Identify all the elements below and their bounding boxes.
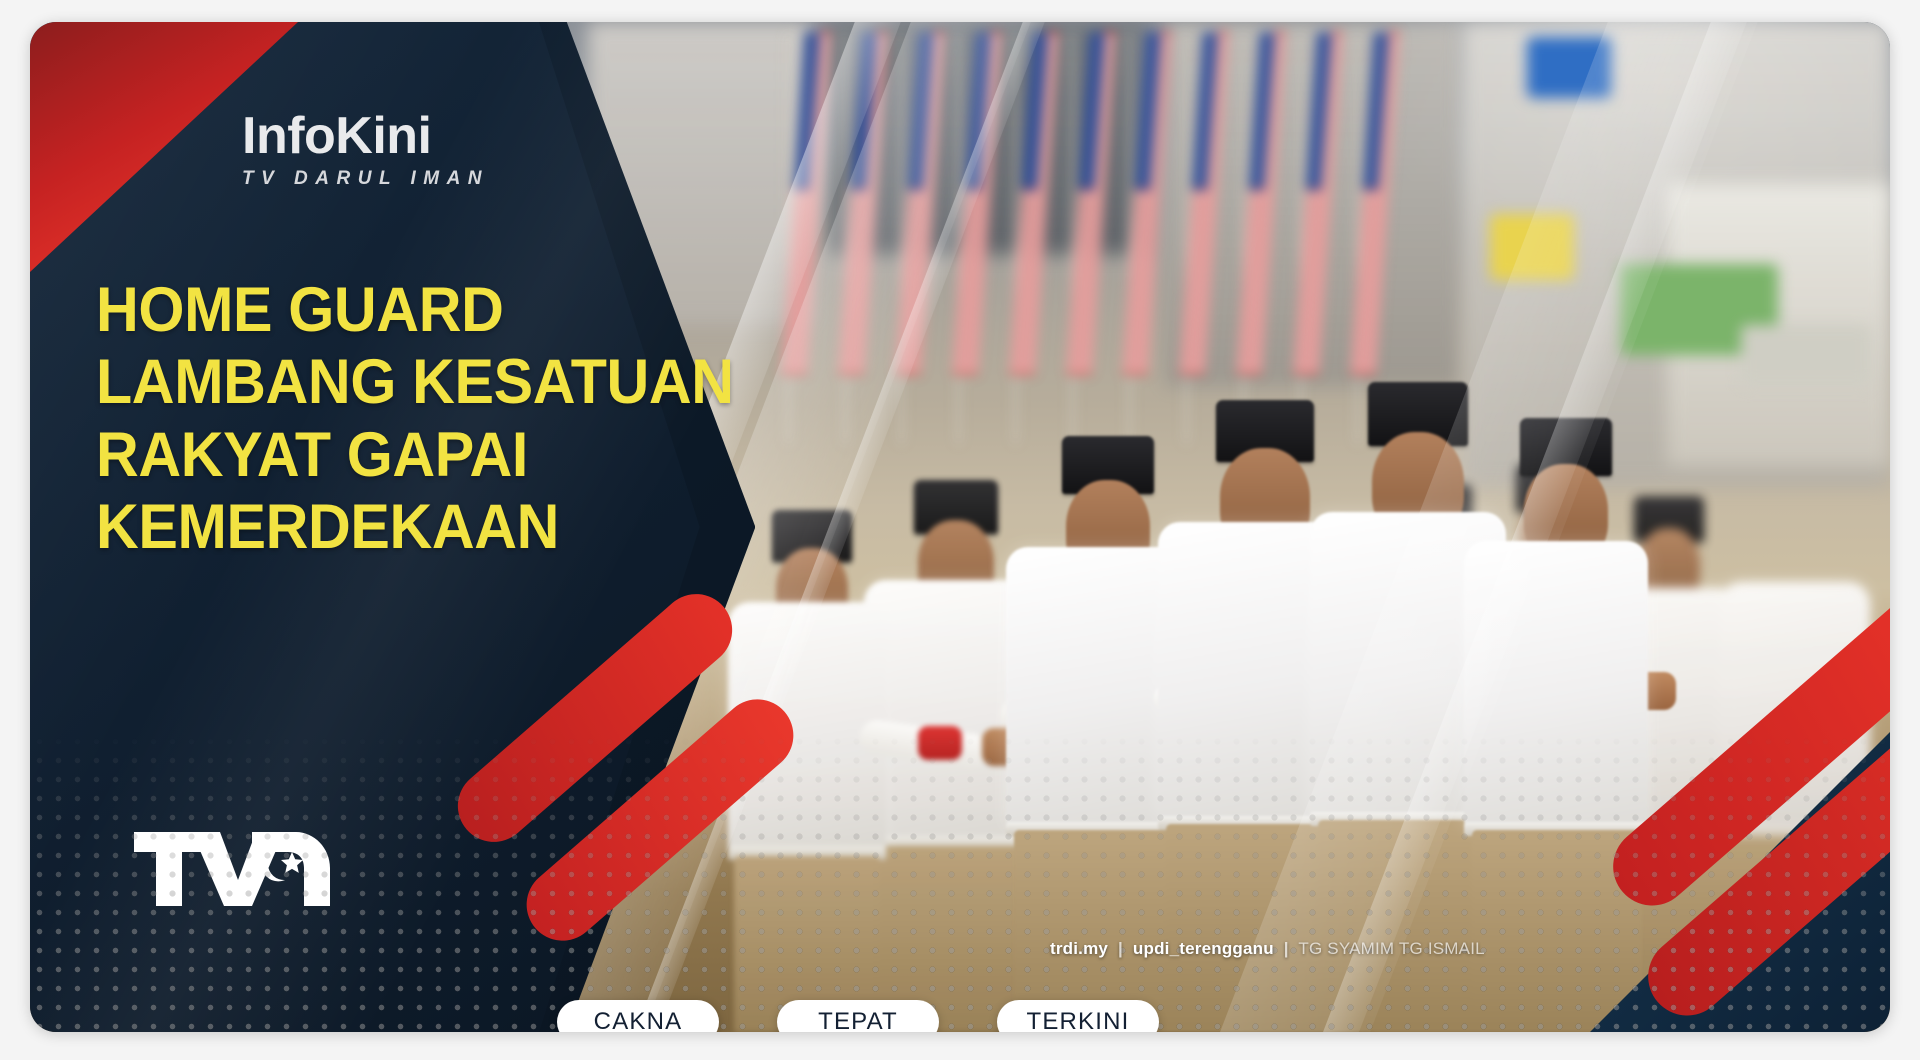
headline: HOME GUARD LAMBANG KESATUAN RAKYAT GAPAI…	[96, 274, 698, 564]
credits-separator-1: |	[1118, 939, 1123, 958]
credits-byline: TG SYAMIM TG ISMAIL	[1298, 939, 1484, 958]
brand-logo: InfoKini TV DARUL IMAN	[242, 110, 489, 190]
credits-separator-2: |	[1284, 939, 1289, 958]
headline-line-2: LAMBANG KESATUAN	[96, 346, 698, 418]
credits-handle: updi_terengganu	[1133, 939, 1274, 958]
headline-line-3: RAKYAT GAPAI	[96, 419, 698, 491]
pill-tepat[interactable]: TEPAT	[777, 1000, 939, 1032]
tvdi-logo	[134, 828, 330, 910]
brand-name: InfoKini	[242, 110, 489, 162]
brand-subtitle: TV DARUL IMAN	[242, 168, 489, 190]
headline-line-1: HOME GUARD	[96, 274, 698, 346]
credits-line: trdi.my | updi_terengganu | TG SYAMIM TG…	[1050, 939, 1485, 959]
headline-line-4: KEMERDEKAAN	[96, 491, 698, 563]
credits-website: trdi.my	[1050, 939, 1108, 958]
pill-terkini[interactable]: TERKINI	[997, 1000, 1159, 1032]
news-graphic-card: InfoKini TV DARUL IMAN HOME GUARD LAMBAN…	[30, 22, 1890, 1032]
pill-cakna[interactable]: CAKNA	[557, 1000, 719, 1032]
